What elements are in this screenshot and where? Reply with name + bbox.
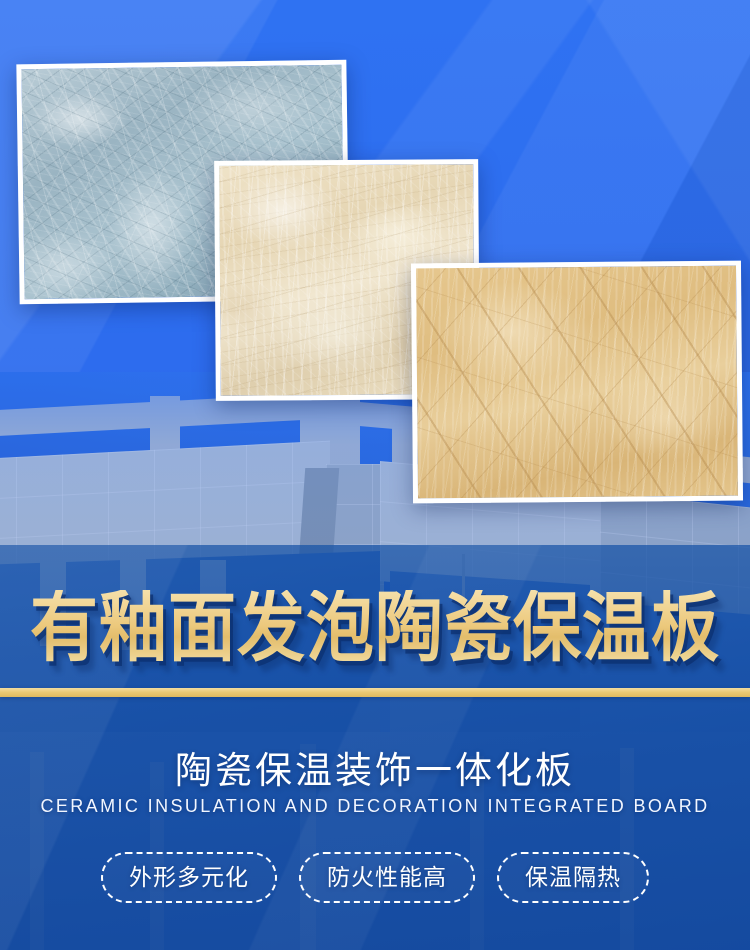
headline-text: 有釉面发泡陶瓷保温板	[30, 590, 720, 666]
subtitle-english: CERAMIC INSULATION AND DECORATION INTEGR…	[0, 796, 750, 817]
feature-badge-list: 外形多元化 防火性能高 保温隔热	[0, 852, 750, 903]
promo-banner: 有釉面发泡陶瓷保温板 陶瓷保温装饰一体化板 CERAMIC INSULATION…	[0, 0, 750, 950]
subtitle-chinese: 陶瓷保温装饰一体化板	[0, 740, 750, 794]
headline-container: 有釉面发泡陶瓷保温板	[0, 583, 750, 673]
feature-badge-fire-resistance: 防火性能高	[299, 852, 475, 903]
gold-divider	[0, 688, 750, 697]
feature-badge-thermal-insulation: 保温隔热	[497, 852, 649, 903]
sample-tile-tan-golden-marble	[411, 261, 743, 504]
feature-badge-shape-diversity: 外形多元化	[101, 852, 277, 903]
tan-golden-marble-surface	[416, 266, 738, 499]
